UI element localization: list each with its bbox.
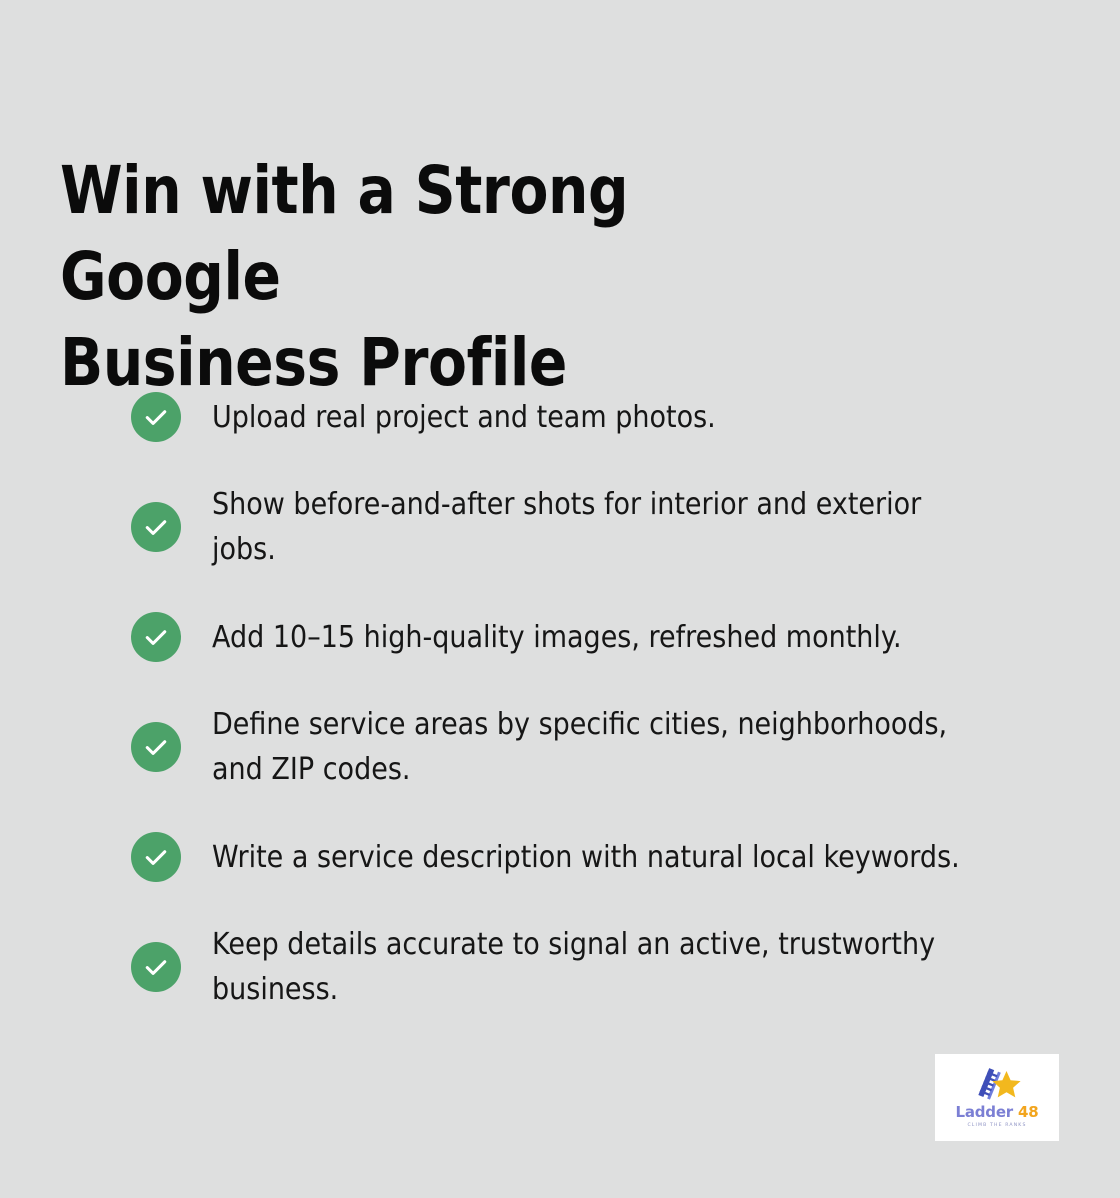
check-circle-icon xyxy=(131,502,181,552)
list-item-label: Add 10–15 high-quality images, refreshed… xyxy=(212,615,976,660)
list-item-label: Define service areas by specific cities,… xyxy=(212,702,976,792)
logo-word-main: Ladder xyxy=(955,1103,1013,1121)
list-item: Keep details accurate to signal an activ… xyxy=(131,912,1061,1022)
logo-tagline: CLIMB THE RANKS xyxy=(967,1123,1026,1128)
logo-word-number: 48 xyxy=(1018,1103,1038,1121)
poster-canvas: Win with a Strong Google Business Profil… xyxy=(0,0,1120,1198)
list-item: Upload real project and team photos. xyxy=(131,362,1061,472)
logo-wordmark: Ladder 48 xyxy=(955,1104,1038,1120)
list-item: Write a service description with natural… xyxy=(131,802,1061,912)
check-circle-icon xyxy=(131,722,181,772)
list-item-label: Write a service description with natural… xyxy=(212,835,976,880)
list-item-label: Show before-and-after shots for interior… xyxy=(212,482,976,572)
brand-logo-card: Ladder 48 CLIMB THE RANKS xyxy=(935,1054,1059,1141)
check-circle-icon xyxy=(131,942,181,992)
check-circle-icon xyxy=(131,392,181,442)
ladder-star-logo-icon xyxy=(971,1068,1023,1102)
check-circle-icon xyxy=(131,832,181,882)
list-item-label: Upload real project and team photos. xyxy=(212,395,976,440)
checklist: Upload real project and team photos. Sho… xyxy=(131,362,1061,1022)
list-item-label: Keep details accurate to signal an activ… xyxy=(212,922,976,1012)
check-circle-icon xyxy=(131,612,181,662)
list-item: Show before-and-after shots for interior… xyxy=(131,472,1061,582)
list-item: Define service areas by specific cities,… xyxy=(131,692,1061,802)
list-item: Add 10–15 high-quality images, refreshed… xyxy=(131,582,1061,692)
